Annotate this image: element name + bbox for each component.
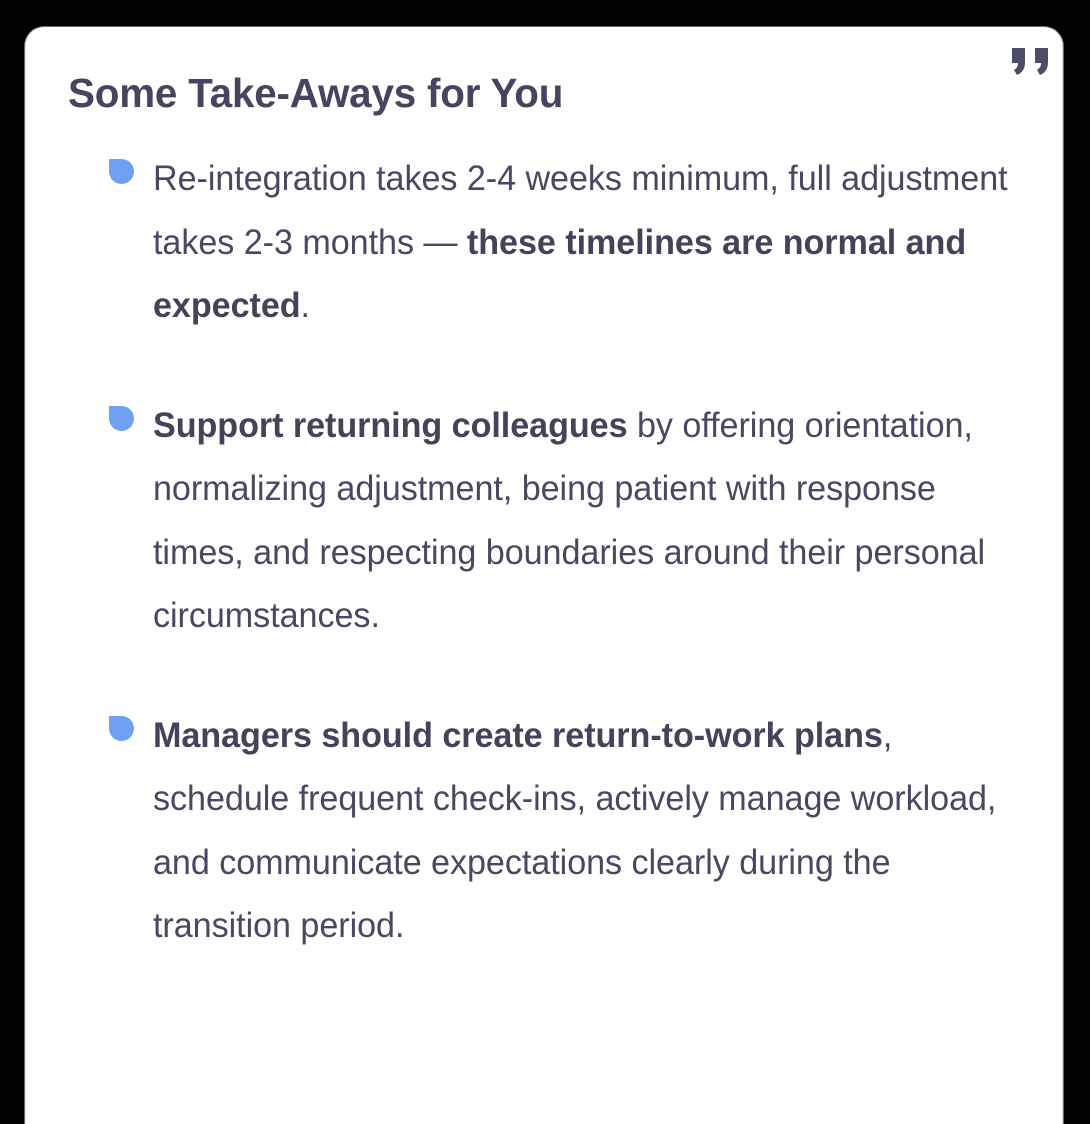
- takeaway-text: Support returning colleagues by offering…: [153, 394, 1013, 648]
- slide-content: Some Take-Aways for You Re-integration t…: [25, 27, 1063, 958]
- droplet-bullet-icon: [109, 716, 134, 741]
- quote-mark-icon: [1008, 48, 1054, 78]
- list-item: Managers should create return-to-work pl…: [68, 704, 1035, 958]
- slide-stage: Some Take-Aways for You Re-integration t…: [0, 0, 1090, 1124]
- slide-card: Some Take-Aways for You Re-integration t…: [25, 27, 1063, 1124]
- takeaway-list: Re-integration takes 2-4 weeks minimum, …: [68, 147, 1035, 958]
- page-title: Some Take-Aways for You: [68, 68, 1020, 118]
- droplet-bullet-icon: [109, 159, 134, 184]
- droplet-bullet-icon: [109, 406, 134, 431]
- list-item: Re-integration takes 2-4 weeks minimum, …: [68, 147, 1035, 338]
- takeaway-text: Re-integration takes 2-4 weeks minimum, …: [153, 147, 1013, 338]
- takeaway-text: Managers should create return-to-work pl…: [153, 704, 1013, 958]
- list-item: Support returning colleagues by offering…: [68, 394, 1035, 648]
